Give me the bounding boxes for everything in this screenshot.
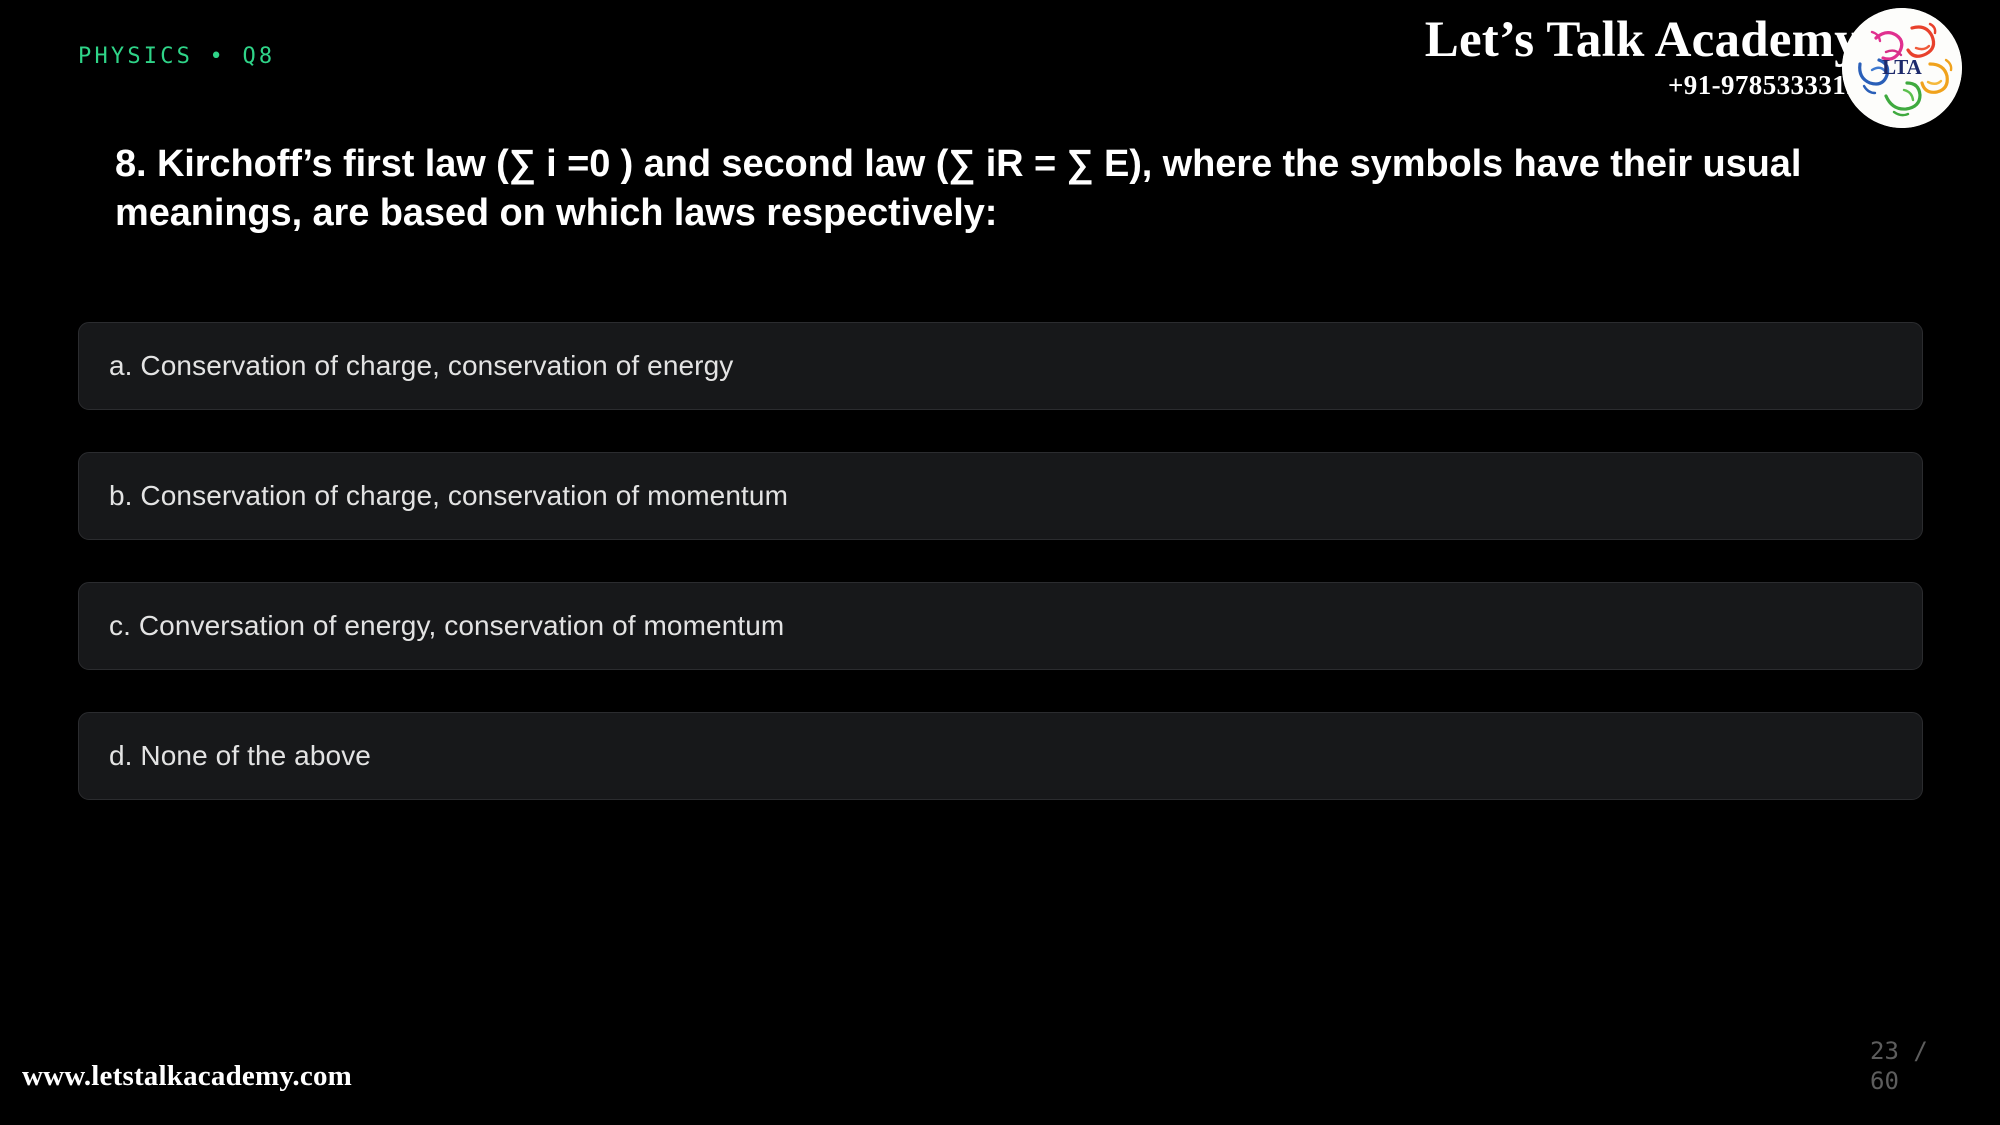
option-d[interactable]: d. None of the above	[78, 712, 1923, 800]
academy-logo: LTA	[1842, 8, 1962, 128]
option-d-label: d. None of the above	[79, 740, 371, 772]
page-total: 60	[1870, 1067, 1899, 1095]
page-separator: /	[1913, 1037, 1927, 1065]
brand-phone: +91-9785333312	[1425, 70, 1860, 101]
protein-ribbon-logo-icon: LTA	[1842, 8, 1962, 128]
topic-badge: PHYSICS • Q8	[78, 44, 275, 69]
svg-text:LTA: LTA	[1882, 55, 1923, 79]
option-c[interactable]: c. Conversation of energy, conservation …	[78, 582, 1923, 670]
brand-name: Let’s Talk Academy	[1425, 14, 1860, 66]
option-a-label: a. Conservation of charge, conservation …	[79, 350, 733, 382]
option-a[interactable]: a. Conservation of charge, conservation …	[78, 322, 1923, 410]
option-c-label: c. Conversation of energy, conservation …	[79, 610, 784, 642]
option-b[interactable]: b. Conservation of charge, conservation …	[78, 452, 1923, 540]
option-b-label: b. Conservation of charge, conservation …	[79, 480, 788, 512]
options-list: a. Conservation of charge, conservation …	[78, 322, 1923, 842]
brand-block: Let’s Talk Academy +91-9785333312	[1425, 14, 1860, 101]
slide-header: PHYSICS • Q8 Let’s Talk Academy +91-9785…	[0, 0, 2000, 130]
question-text: 8. Kirchoff’s first law (∑ i =0 ) and se…	[115, 140, 1885, 239]
footer-website: www.letstalkacademy.com	[22, 1060, 352, 1093]
page-current: 23	[1870, 1037, 1899, 1065]
page-counter: 23 / 60	[1870, 1036, 1956, 1097]
